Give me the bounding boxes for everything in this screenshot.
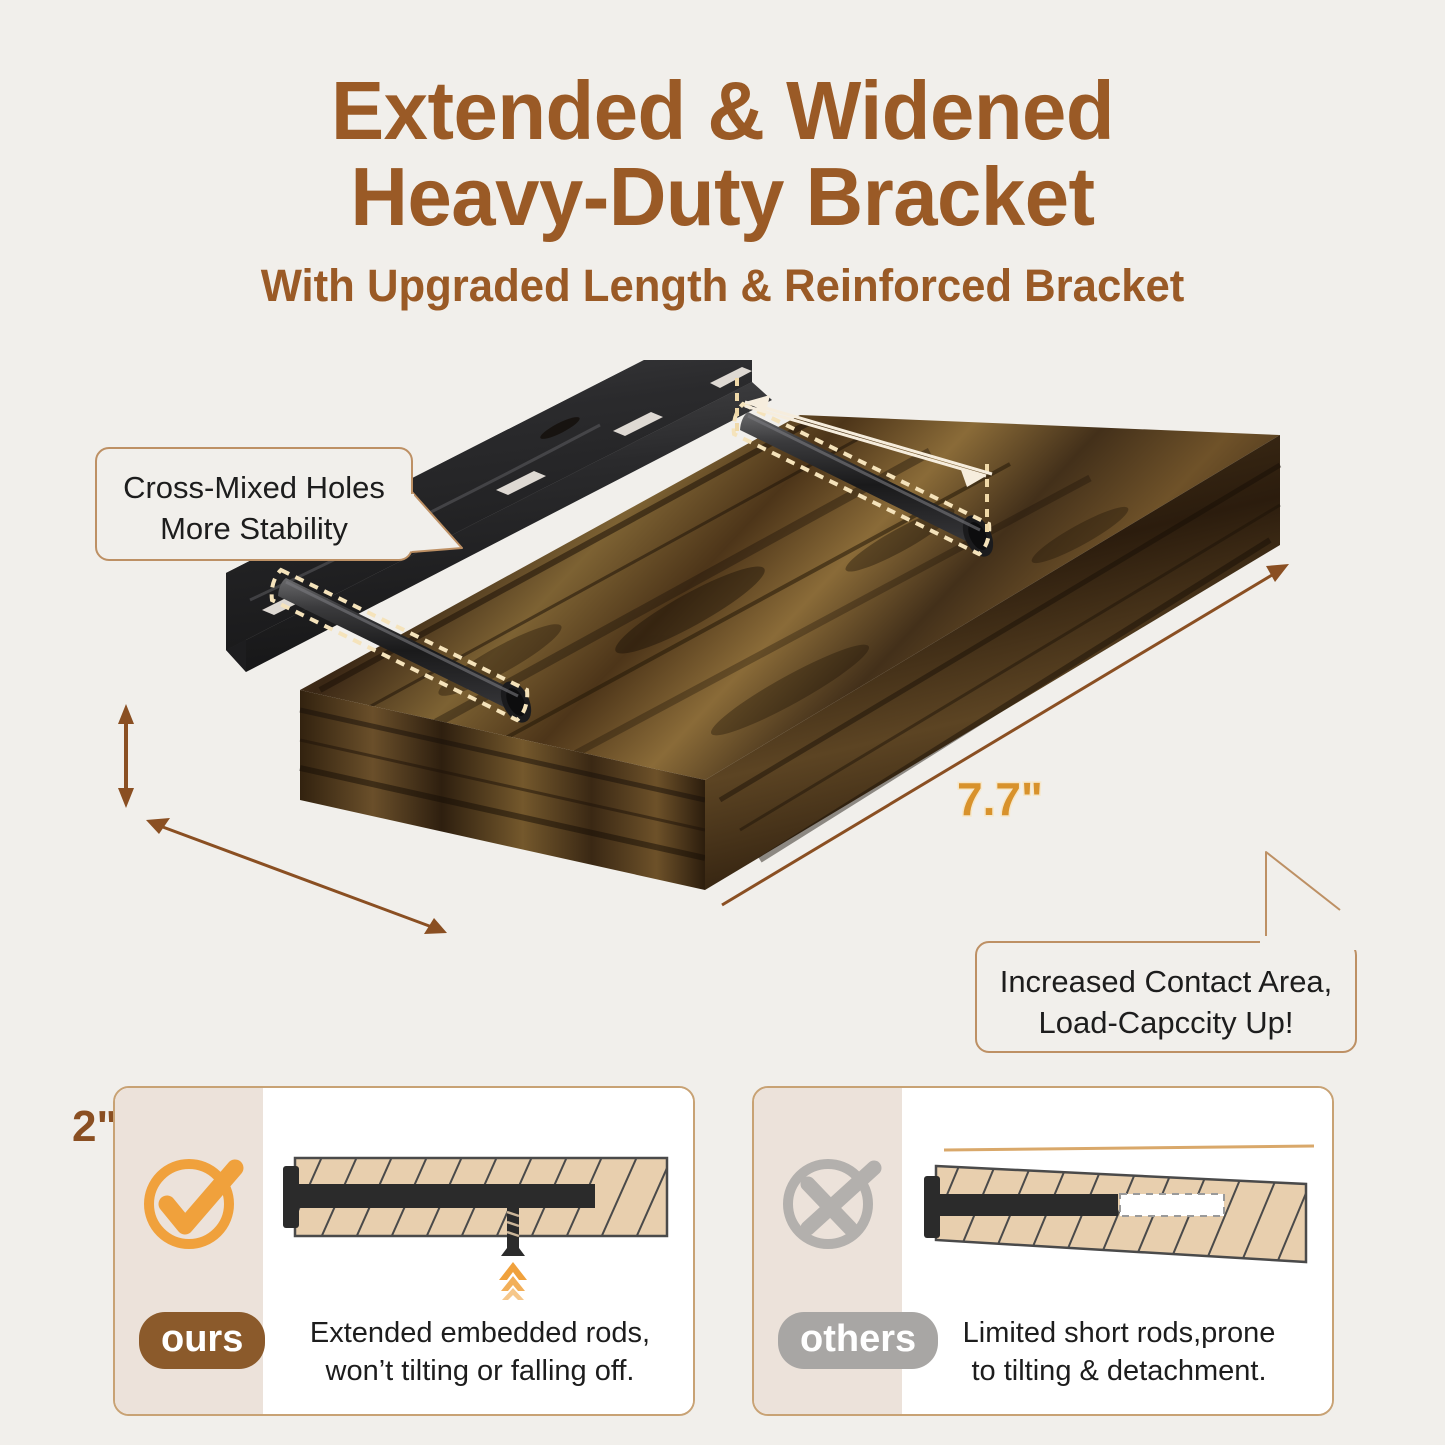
panel-others-caption-line2: to tilting & detachment. (904, 1352, 1334, 1390)
thickness-measure (118, 704, 134, 808)
callout-left-line2: More Stability (117, 508, 391, 549)
header-block: Extended & Widened Heavy-Duty Bracket Wi… (0, 68, 1445, 310)
cross-section-ours (275, 1140, 685, 1300)
callout-cross-mixed-holes: Cross-Mixed Holes More Stability (95, 447, 413, 561)
comparison-panel-others: others Li (752, 1086, 1334, 1416)
original-level-line (944, 1146, 1314, 1150)
callout-left-tail (400, 490, 520, 580)
upward-force-arrows (499, 1262, 527, 1300)
circle-check-icon (137, 1146, 249, 1258)
panel-others-caption-line1: Limited short rods,prone (904, 1314, 1334, 1352)
badge-ours: ours (139, 1312, 265, 1369)
page-subtitle: With Upgraded Length & Reinforced Bracke… (22, 262, 1424, 310)
panel-others-caption: Limited short rods,prone to tilting & de… (904, 1314, 1334, 1390)
panel-ours-caption-line2: won’t tilting or falling off. (265, 1352, 695, 1390)
panel-ours-caption: Extended embedded rods, won’t tilting or… (265, 1314, 695, 1390)
page-title-line2: Heavy-Duty Bracket (29, 154, 1416, 240)
panel-ours-caption-line1: Extended embedded rods, (265, 1314, 695, 1352)
infographic-page: Extended & Widened Heavy-Duty Bracket Wi… (0, 0, 1445, 1445)
page-title-line1: Extended & Widened (29, 68, 1416, 154)
comparison-section: ours (0, 1086, 1445, 1426)
dimension-label-rod-length: 7.7" (957, 772, 1043, 826)
callout-left-line1: Cross-Mixed Holes (117, 467, 391, 508)
embedded-rod-ours (295, 1184, 595, 1208)
callout-right-tail (1230, 848, 1370, 958)
callout-right-line1: Increased Contact Area, (997, 961, 1335, 1002)
depth-measure (146, 818, 447, 934)
short-rod-others (936, 1194, 1118, 1216)
cross-section-others (914, 1140, 1324, 1300)
comparison-panel-ours: ours (113, 1086, 695, 1416)
callout-right-line2: Load-Capccity Up! (997, 1002, 1335, 1043)
empty-cavity-others (1120, 1194, 1224, 1216)
circle-cross-icon (776, 1146, 888, 1258)
